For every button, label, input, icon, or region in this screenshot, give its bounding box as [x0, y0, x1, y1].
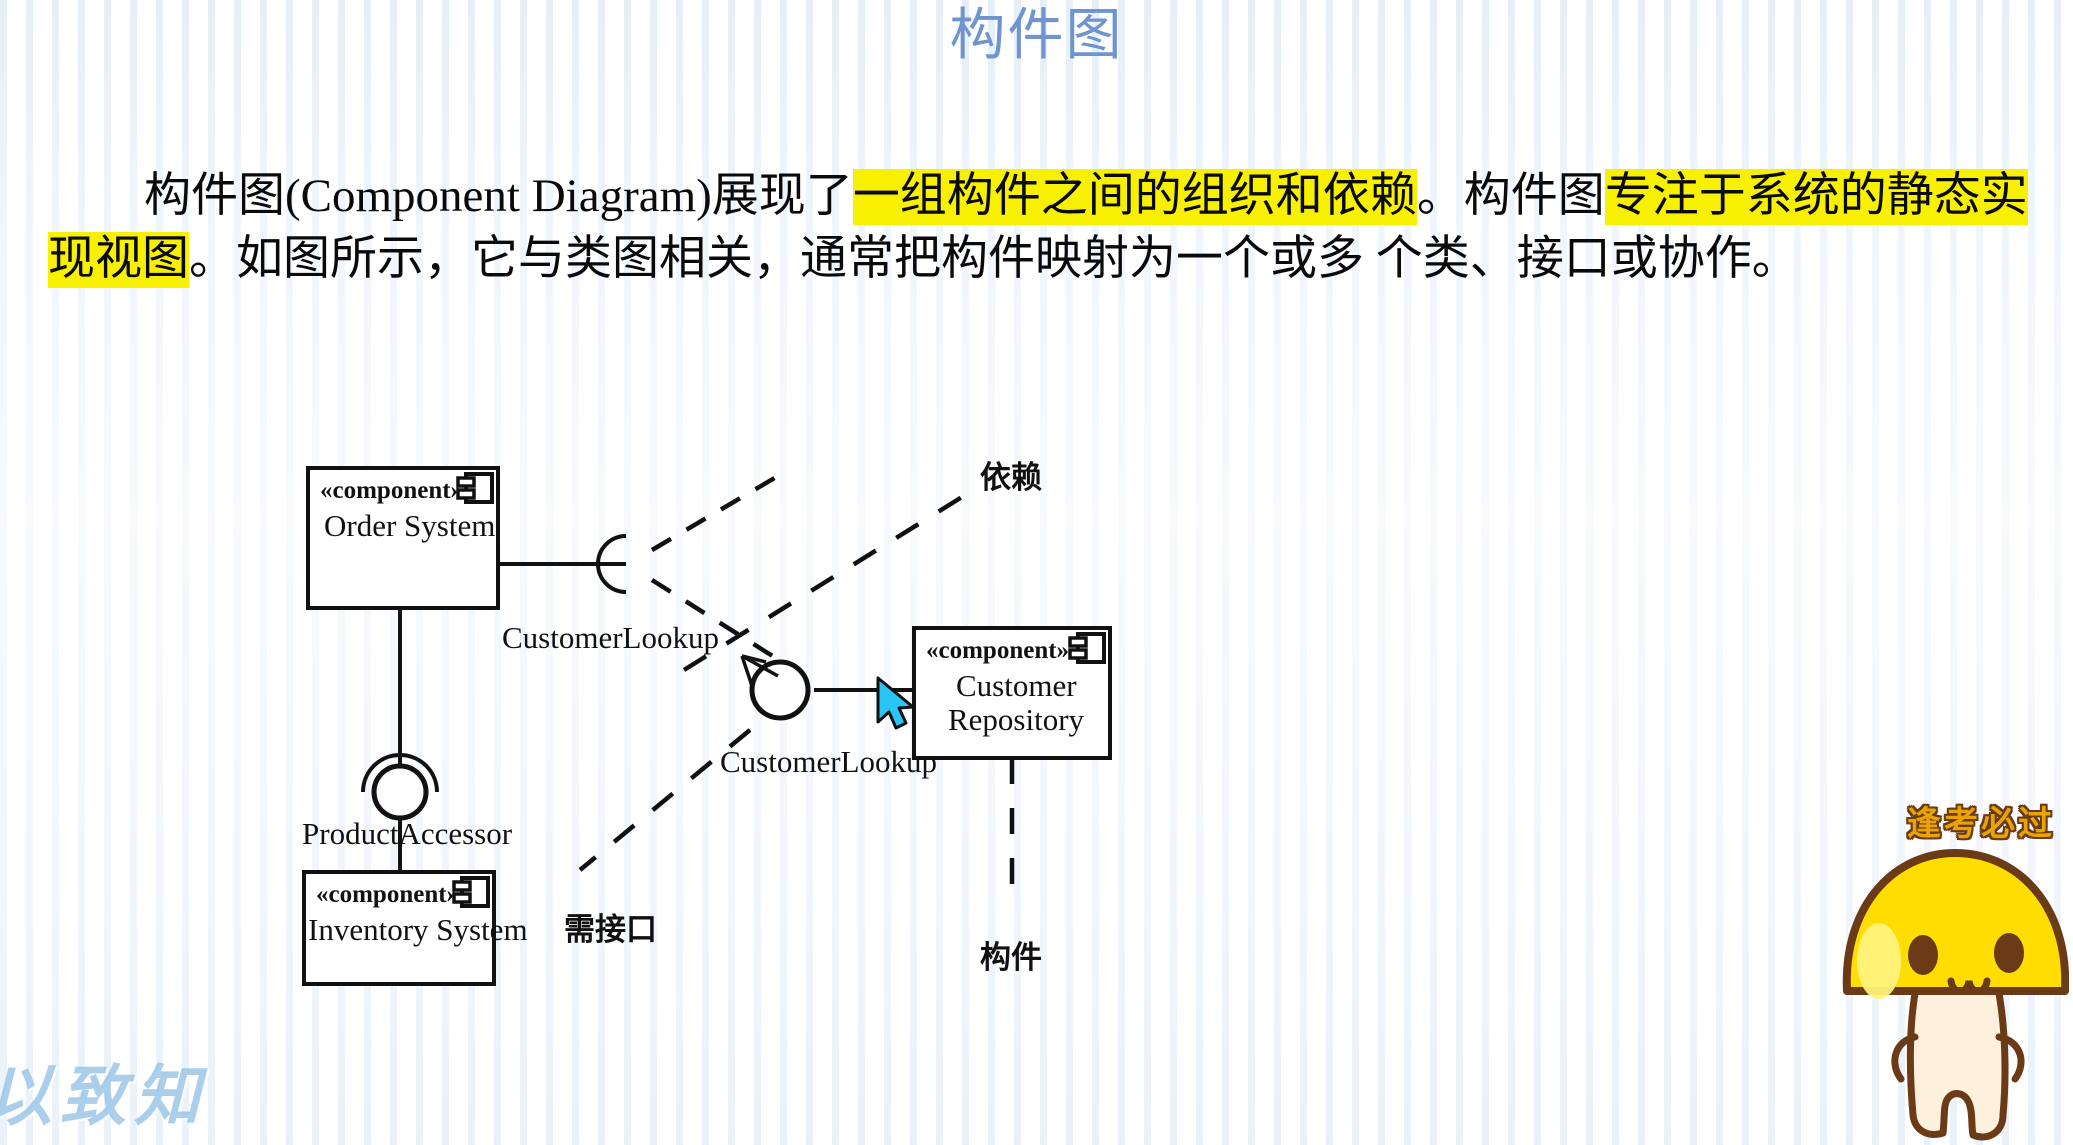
page-title: 构件图 [0, 6, 2073, 65]
annotation-component: 构件 [980, 940, 1042, 975]
assembly-interface-label: ProductAccessor [302, 816, 513, 851]
paragraph-segment-1: 构件图(Component Diagram)展现了 [144, 170, 853, 222]
paragraph-segment-3: 。构件图 [1417, 170, 1605, 222]
mascot-eye-right [1994, 933, 2024, 973]
component-stereotype: «component» [316, 881, 459, 908]
slide-canvas: 构件图 构件图(Component Diagram)展现了一组构件之间的组织和依… [0, 0, 2073, 1145]
calligraphy-watermark: 以致知 [0, 1043, 208, 1139]
provided-interface-label: CustomerLookup [720, 744, 937, 779]
mascot-mushroom [1839, 815, 2069, 1145]
component-stereotype: «component» [320, 477, 463, 504]
annotation-provided-interface: 供接口 [695, 440, 789, 441]
annotation-dependency: 依赖 [980, 460, 1042, 495]
component-name-line-2: Repository [948, 702, 1085, 737]
paragraph-segment-5: 。如图所示，它与类图相关，通常把构件映射为一个或多 个类、接口或协作。 [189, 233, 1799, 285]
component-name: Inventory System [308, 912, 528, 947]
component-name: Order System [324, 508, 495, 543]
component-inventory-system[interactable]: «component» Inventory System [304, 872, 528, 984]
provided-interface-leader [652, 476, 778, 550]
component-stereotype: «component» [926, 637, 1069, 664]
component-name-line-1: Customer [956, 668, 1077, 703]
mascot-eye-left [1908, 935, 1938, 975]
mascot-cap-highlight [1857, 923, 1901, 999]
mascot-stem [1910, 983, 2005, 1137]
body-paragraph: 构件图(Component Diagram)展现了一组构件之间的组织和依赖。构件… [48, 165, 2038, 291]
component-order-system[interactable]: «component» Order System [308, 468, 498, 608]
mouse-cursor [878, 678, 913, 728]
uml-component-diagram: .box { fill:#ffffff; stroke:#111111; str… [280, 440, 1580, 1060]
component-customer-repository[interactable]: «component» Customer Repository [914, 628, 1110, 758]
required-interface-socket[interactable] [498, 536, 626, 592]
annotation-required-interface: 需接口 [564, 912, 657, 947]
paragraph-segment-2-highlighted: 一组构件之间的组织和依赖 [853, 169, 1417, 225]
required-interface-label: CustomerLookup [502, 620, 719, 655]
